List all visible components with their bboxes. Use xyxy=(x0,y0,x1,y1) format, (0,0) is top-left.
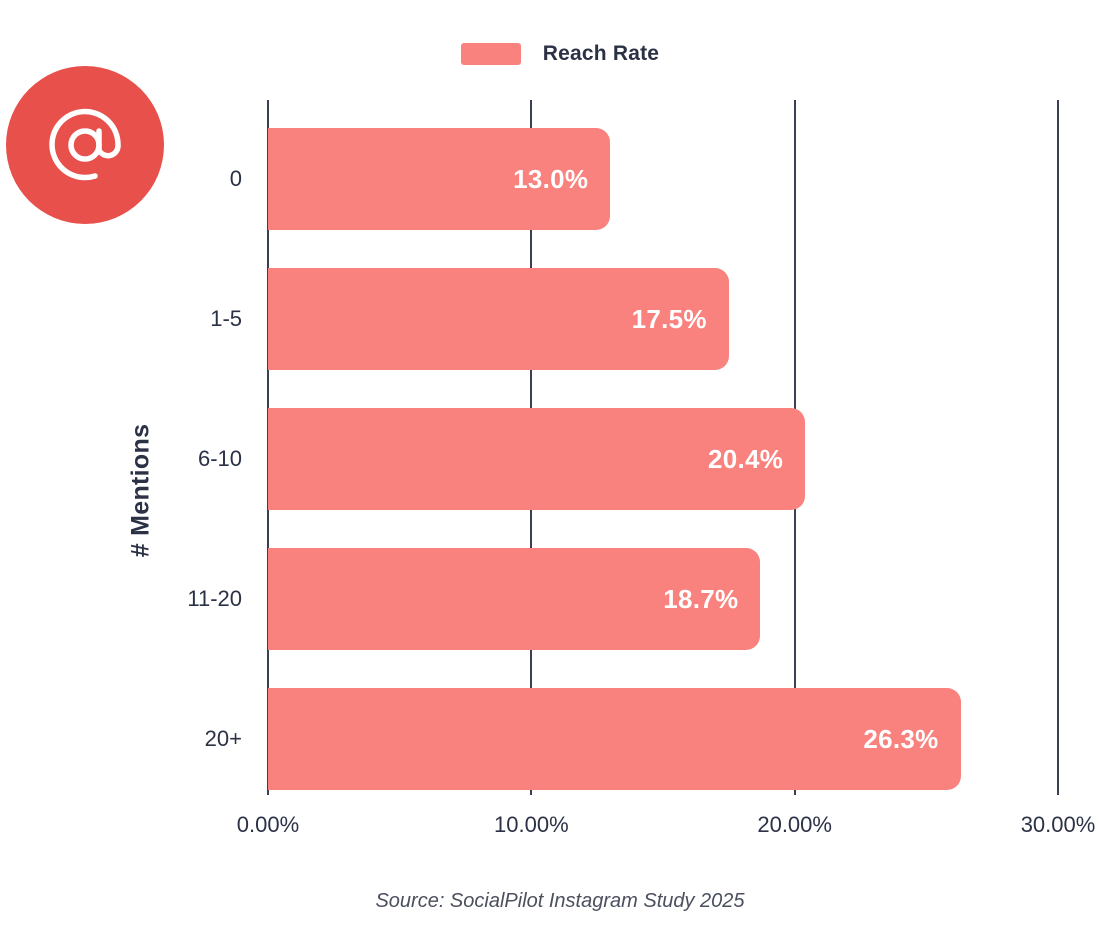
legend-swatch-reach-rate xyxy=(461,43,521,65)
bar-row: 1-517.5% xyxy=(268,268,1058,370)
plot-area: 0.00%10.00%20.00%30.00%013.0%1-517.5%6-1… xyxy=(268,100,1058,795)
bar-value-label: 17.5% xyxy=(632,304,707,335)
chart-card: Reach Rate # Mentions 0.00%10.00%20.00%3… xyxy=(0,0,1120,950)
bar-reach-rate[interactable]: 20.4% xyxy=(268,408,805,510)
y-axis-title: # Mentions xyxy=(96,380,186,600)
x-axis-tick-label: 10.00% xyxy=(494,812,569,838)
source-caption: Source: SocialPilot Instagram Study 2025 xyxy=(0,890,1120,913)
bar-value-label: 26.3% xyxy=(863,724,938,755)
bar-row: 013.0% xyxy=(268,128,1058,230)
x-axis-tick-label: 30.00% xyxy=(1021,812,1096,838)
y-axis-category-label: 0 xyxy=(230,166,242,192)
y-axis-category-label: 11-20 xyxy=(187,586,242,612)
chart-legend: Reach Rate xyxy=(0,42,1120,66)
bar-row: 11-2018.7% xyxy=(268,548,1058,650)
y-axis-category-label: 20+ xyxy=(205,726,242,752)
at-sign-icon xyxy=(6,66,164,224)
x-axis-tick-label: 0.00% xyxy=(237,812,299,838)
bar-reach-rate[interactable]: 13.0% xyxy=(268,128,610,230)
bar-reach-rate[interactable]: 26.3% xyxy=(268,688,961,790)
bar-reach-rate[interactable]: 18.7% xyxy=(268,548,760,650)
bar-value-label: 20.4% xyxy=(708,444,783,475)
legend-label-reach-rate: Reach Rate xyxy=(543,42,659,66)
bar-row: 6-1020.4% xyxy=(268,408,1058,510)
y-axis-category-label: 6-10 xyxy=(198,446,242,472)
y-axis-title-text: # Mentions xyxy=(127,423,156,557)
bar-value-label: 13.0% xyxy=(513,164,588,195)
y-axis-category-label: 1-5 xyxy=(210,306,242,332)
x-axis-tick-label: 20.00% xyxy=(757,812,832,838)
legend-item-reach-rate[interactable]: Reach Rate xyxy=(461,42,659,66)
bar-reach-rate[interactable]: 17.5% xyxy=(268,268,729,370)
bar-value-label: 18.7% xyxy=(663,584,738,615)
bar-row: 20+26.3% xyxy=(268,688,1058,790)
